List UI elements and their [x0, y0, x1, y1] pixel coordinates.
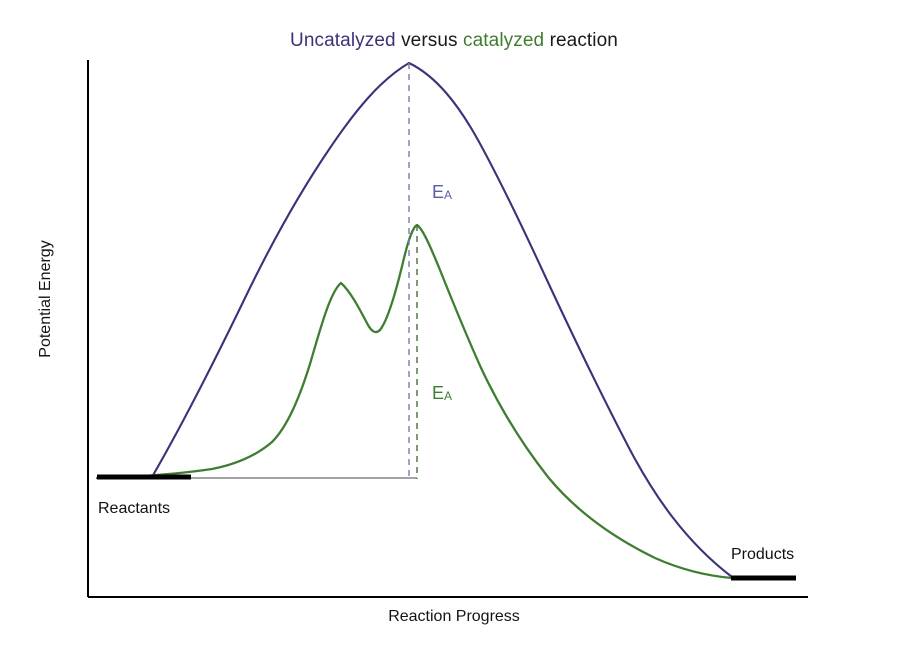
chart-title: Uncatalyzed versus catalyzed reaction	[0, 30, 908, 52]
reactants-label: Reactants	[98, 500, 170, 518]
title-part-uncatalyzed: Uncatalyzed	[290, 30, 396, 51]
activation-energy-uncatalyzed-label: EA	[432, 182, 452, 203]
title-part-versus: versus	[396, 30, 463, 51]
ea-subscript-catalyzed: A	[444, 389, 452, 403]
title-part-catalyzed: catalyzed	[463, 30, 544, 51]
chart-canvas: Uncatalyzed versus catalyzed reaction Po…	[0, 0, 908, 671]
title-part-reaction: reaction	[544, 30, 618, 51]
energy-diagram-svg	[0, 0, 908, 671]
ea-symbol-catalyzed: E	[432, 383, 444, 403]
uncatalyzed-reaction-curve	[152, 63, 732, 577]
ea-symbol-uncatalyzed: E	[432, 182, 444, 202]
x-axis-label: Reaction Progress	[0, 608, 908, 626]
ea-subscript-uncatalyzed: A	[444, 188, 452, 202]
activation-energy-catalyzed-label: EA	[432, 383, 452, 404]
y-axis-label: Potential Energy	[37, 209, 55, 389]
products-label: Products	[731, 546, 794, 564]
